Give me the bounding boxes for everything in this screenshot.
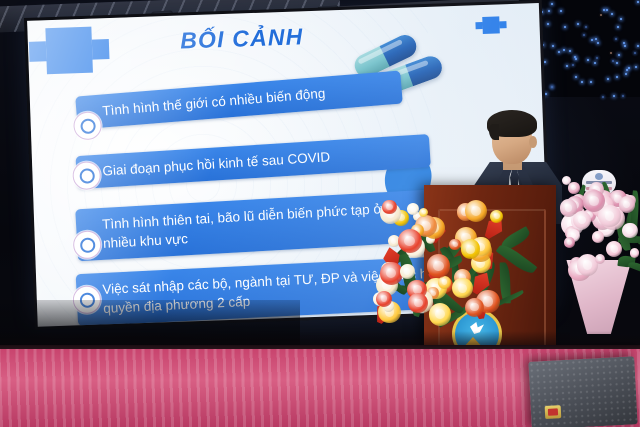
star-light xyxy=(569,50,571,52)
star-light xyxy=(575,58,577,60)
flower-bloom xyxy=(622,223,638,239)
flower-bloom xyxy=(560,199,578,217)
star-light xyxy=(610,52,612,54)
flower-bloom xyxy=(630,248,640,258)
loudspeaker-cabinet xyxy=(528,356,637,427)
star-light xyxy=(616,62,618,64)
flower-bloom xyxy=(376,291,392,307)
star-light xyxy=(615,38,617,40)
star-light xyxy=(583,34,585,36)
flower-bloom xyxy=(380,262,403,285)
star-light xyxy=(551,86,553,88)
star-light xyxy=(635,66,637,68)
flower-arrangement-left xyxy=(372,176,504,324)
flower-bloom xyxy=(427,254,451,278)
flower-bloom xyxy=(465,298,484,317)
star-light xyxy=(595,38,597,40)
loudspeaker-badge xyxy=(545,405,562,419)
star-light xyxy=(613,95,615,97)
star-light xyxy=(606,9,608,11)
star-light xyxy=(597,42,599,44)
star-light xyxy=(560,10,562,12)
flower-bloom xyxy=(398,229,422,253)
slide-bullet-text: Tình hình thế giới có nhiều biến động xyxy=(75,71,403,130)
hair xyxy=(487,110,537,137)
flower-bloom xyxy=(619,196,635,212)
flower-arrangement-right xyxy=(556,166,640,336)
flower-bloom xyxy=(419,208,428,217)
flower-bloom xyxy=(465,200,488,223)
star-light xyxy=(563,49,565,51)
flower-bloom xyxy=(564,237,575,248)
flower-bloom xyxy=(452,278,472,298)
slide-bullet-1: Tình hình thế giới có nhiều biến động xyxy=(75,71,403,130)
star-light xyxy=(637,45,639,47)
flower-bloom xyxy=(382,200,396,214)
flower-bloom xyxy=(400,264,415,279)
star-light xyxy=(544,61,546,63)
flower-bloom xyxy=(573,211,591,229)
star-light xyxy=(577,23,579,25)
star-light xyxy=(611,13,613,15)
star-light xyxy=(566,65,568,67)
star-light xyxy=(552,45,554,47)
star-light xyxy=(558,51,560,53)
star-light xyxy=(590,81,592,83)
star-light xyxy=(620,18,622,20)
ear xyxy=(529,136,537,148)
star-light xyxy=(596,57,598,59)
star-light xyxy=(626,69,628,71)
flower-bloom xyxy=(606,241,622,257)
star-light xyxy=(591,39,593,41)
star-light xyxy=(607,78,609,80)
star-light xyxy=(637,1,639,3)
foliage-leaf xyxy=(627,260,640,275)
flower-bloom xyxy=(568,182,579,193)
flower-bloom xyxy=(449,239,460,250)
star-light xyxy=(594,62,596,64)
star-light xyxy=(564,26,566,28)
star-light xyxy=(587,59,589,61)
star-light xyxy=(551,3,553,5)
star-light xyxy=(547,23,549,25)
star-light xyxy=(572,64,574,66)
star-light xyxy=(616,76,618,78)
star-light xyxy=(612,60,614,62)
star-light xyxy=(585,26,587,28)
star-light xyxy=(581,81,583,83)
flower-bloom xyxy=(592,231,604,243)
star-light xyxy=(548,10,550,12)
star-light xyxy=(600,14,602,16)
star-light xyxy=(545,93,547,95)
conference-stage-photo: BỐI CẢNH Tình hình thế giới có nhiều biế… xyxy=(0,0,640,427)
star-light xyxy=(624,45,626,47)
star-light xyxy=(625,73,627,75)
star-light xyxy=(634,52,636,54)
star-light xyxy=(617,26,619,28)
star-light xyxy=(618,54,620,56)
star-light xyxy=(575,76,577,78)
star-light xyxy=(628,67,630,69)
